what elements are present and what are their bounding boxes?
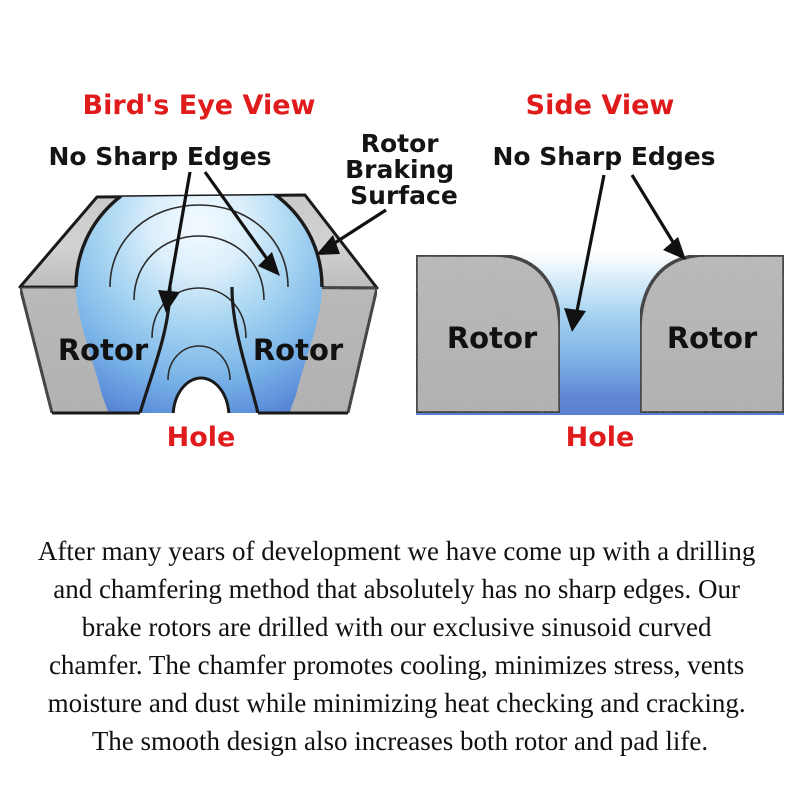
- rbs-line-3: Surface: [350, 181, 458, 210]
- illustration-page: Bird's Eye View No Sharp Edges Rotor Bra…: [0, 0, 800, 800]
- left-hole-label: Hole: [167, 422, 236, 453]
- side-rotor-label-right: Rotor: [667, 321, 758, 355]
- body-line-4: chamfer. The chamfer promotes cooling, m…: [49, 650, 744, 680]
- body-line-1: After many years of development we have …: [38, 536, 756, 566]
- left-rotor-label-right: Rotor: [253, 333, 344, 367]
- body-line-3: brake rotors are drilled with our exclus…: [82, 612, 712, 642]
- left-rotor-label-left: Rotor: [58, 333, 149, 367]
- body-paragraph: After many years of development we have …: [38, 536, 762, 756]
- body-line-5: moisture and dust while minimizing heat …: [48, 688, 746, 718]
- rbs-line-1: Rotor: [361, 129, 440, 158]
- side-view-title: Side View: [526, 90, 675, 121]
- rotor-braking-surface-label: Rotor Braking Surface: [345, 129, 463, 210]
- body-line-6: The smooth design also increases both ro…: [92, 726, 708, 756]
- chamfer-bowl: [76, 170, 322, 422]
- rbs-line-2: Braking: [345, 155, 454, 184]
- left-no-sharp-edges-label: No Sharp Edges: [48, 142, 271, 171]
- right-hole-label: Hole: [566, 422, 635, 453]
- side-view-panel: Side View No Sharp Edges Rotor Rotor Hol…: [416, 90, 784, 453]
- right-no-sharp-edges-leader-b: [632, 175, 686, 260]
- body-line-2: and chamfering method that absolutely ha…: [53, 574, 740, 604]
- right-no-sharp-edges-label: No Sharp Edges: [492, 142, 715, 171]
- rotor-chamfer-diagram: Bird's Eye View No Sharp Edges Rotor Bra…: [0, 0, 800, 800]
- side-rotor-label-left: Rotor: [447, 321, 538, 355]
- svg-text:After many years of developmen: After many years of development we have …: [38, 536, 762, 756]
- bird-eye-view-panel: Bird's Eye View No Sharp Edges Rotor Bra…: [20, 90, 463, 422]
- bird-eye-view-title: Bird's Eye View: [83, 90, 316, 121]
